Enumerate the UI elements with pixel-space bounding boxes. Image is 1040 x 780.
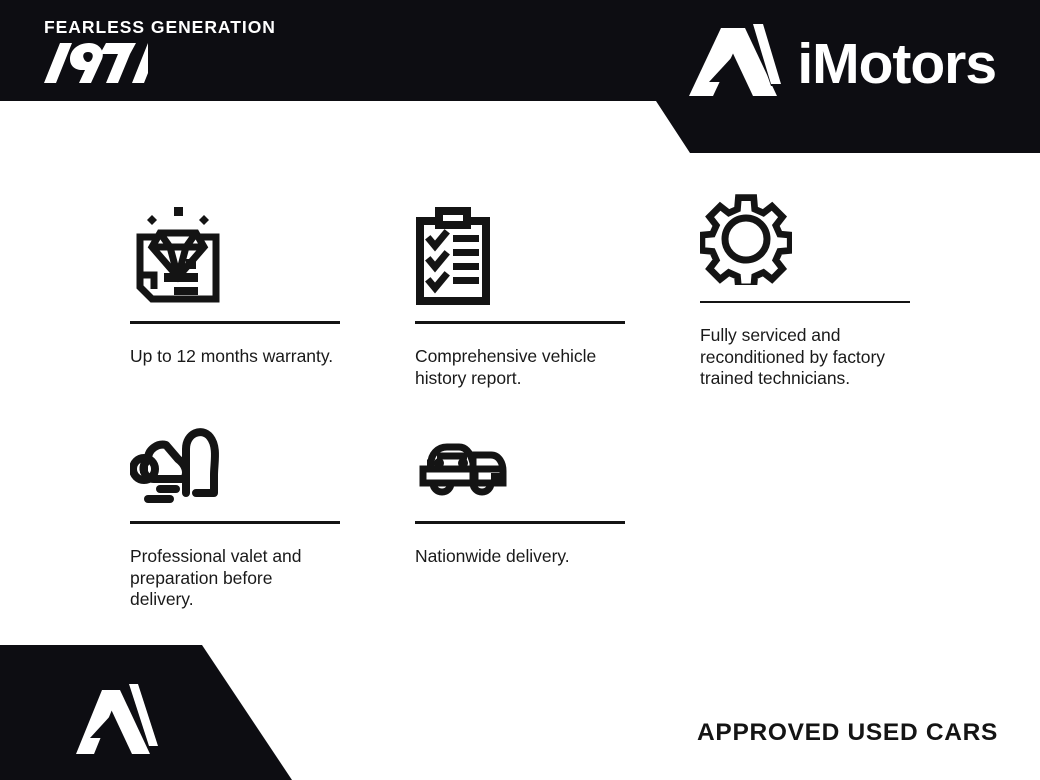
feature-divider [700, 301, 910, 304]
feature-item-empty [700, 400, 910, 611]
imotors-chevron-icon [687, 22, 783, 107]
clipboard-checklist-icon [415, 185, 625, 305]
feature-item-warranty: Up to 12 months warranty. [130, 185, 340, 390]
car-transporter-icon [415, 400, 625, 505]
feature-label: Comprehensive vehicle history report. [415, 346, 625, 389]
feature-row-2: Professional valet and preparation befor… [130, 400, 920, 611]
feature-item-serviced: Fully serviced and reconditioned by fact… [700, 185, 910, 390]
feature-item-delivery: Nationwide delivery. [415, 400, 625, 611]
feature-label: Fully serviced and reconditioned by fact… [700, 325, 910, 390]
feature-label: Nationwide delivery. [415, 546, 625, 568]
feature-item-valet: Professional valet and preparation befor… [130, 400, 340, 611]
gear-icon [700, 185, 910, 285]
imotors-logo-lockup: iMotors [687, 22, 996, 107]
certificate-diamond-icon [130, 185, 340, 305]
feature-divider [415, 321, 625, 324]
footer-headline: APPROVED USED CARS [697, 719, 998, 747]
feature-divider [415, 521, 625, 524]
imotors-wordmark: iMotors [797, 36, 996, 93]
header-brandline: FEARLESS GENERATION [44, 18, 384, 83]
feature-divider [130, 321, 340, 324]
feature-grid: Up to 12 months warranty. [130, 185, 920, 390]
feature-item-history-report: Comprehensive vehicle history report. [415, 185, 625, 390]
feature-label: Up to 12 months warranty. [130, 346, 340, 368]
feature-divider [130, 521, 340, 524]
footer-imotors-chevron-icon [72, 668, 162, 763]
header-tagline: FEARLESS GENERATION [44, 18, 384, 37]
feature-row-1: Up to 12 months warranty. [130, 185, 920, 390]
vacuum-cleaner-icon [130, 400, 340, 505]
feature-label: Professional valet and preparation befor… [130, 546, 340, 611]
year-1971-logo [44, 41, 174, 83]
